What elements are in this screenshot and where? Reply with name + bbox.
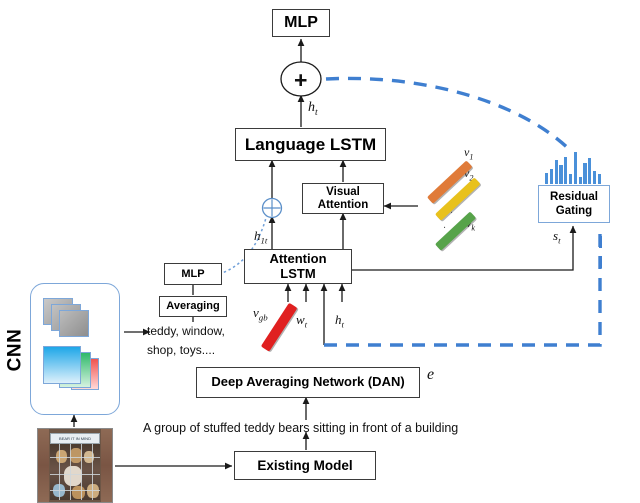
- ellipsis-dots-features-2: .: [443, 219, 446, 231]
- ellipsis-dots-features: .: [450, 204, 453, 216]
- existing-model-box[interactable]: Existing Model: [234, 451, 376, 480]
- visual-attention-box[interactable]: Visual Attention: [302, 183, 384, 214]
- sum-node-label: +: [294, 67, 307, 94]
- histogram-bar: [593, 171, 596, 184]
- dashed-e-to-residualgating: [324, 234, 600, 345]
- photo-bear-7: [87, 484, 99, 498]
- histogram-bar: [550, 169, 553, 184]
- histogram-bar: [588, 158, 591, 184]
- mlp-top-box[interactable]: MLP: [272, 9, 330, 37]
- histogram-bar: [564, 157, 567, 184]
- attention-lstm-box[interactable]: Attention LSTM: [244, 249, 352, 284]
- photo-grid-v3: [81, 444, 82, 500]
- language-lstm-box[interactable]: Language LSTM: [235, 128, 386, 161]
- line-attlstm-to-residual: [352, 262, 573, 270]
- histogram-bar: [583, 163, 586, 184]
- attention-lstm-label-line1: Attention: [269, 252, 326, 267]
- photo-grid-h3: [50, 490, 100, 491]
- photo-grid-h2: [50, 474, 100, 475]
- concept-tags-line1: teddy, window,: [147, 324, 225, 338]
- histogram-bar: [574, 152, 577, 184]
- photo-grid-h1: [50, 457, 100, 458]
- attention-lstm-label-line2: LSTM: [280, 267, 315, 282]
- residual-gating-histogram: [545, 152, 601, 184]
- label-s-t: st: [553, 228, 561, 246]
- visual-attention-label-line2: Attention: [318, 199, 368, 212]
- photo-brick-right: [101, 429, 112, 502]
- histogram-bar: [569, 174, 572, 184]
- feature-map-gray-3: [59, 310, 89, 337]
- photo-grid-v2: [70, 444, 71, 500]
- photo-bear-4: [64, 466, 82, 486]
- histogram-bar: [559, 165, 562, 184]
- photo-window: [50, 444, 100, 500]
- cnn-label: CNN: [0, 300, 32, 400]
- mlp-mid-box[interactable]: MLP: [164, 263, 222, 285]
- photo-store-sign: BEAR IT IN MIND: [50, 433, 100, 444]
- label-e: e: [427, 366, 434, 384]
- cnn-feature-map-group: [30, 283, 120, 415]
- histogram-bar: [555, 160, 558, 184]
- histogram-bar: [545, 173, 548, 184]
- caption-text: A group of stuffed teddy bears sitting i…: [143, 421, 458, 435]
- averaging-box[interactable]: Averaging: [159, 296, 227, 317]
- dashed-stub-2: [599, 256, 602, 268]
- residual-gating-label-line1: Residual: [550, 190, 598, 204]
- concept-tags-line2: shop, toys....: [147, 343, 215, 357]
- dan-box[interactable]: Deep Averaging Network (DAN): [196, 367, 420, 398]
- residual-gating-label-line2: Gating: [556, 204, 592, 218]
- feature-map-blue: [43, 346, 81, 384]
- input-photo: BEAR IT IN MIND: [37, 428, 113, 503]
- visual-attention-label-line1: Visual: [326, 186, 360, 199]
- histogram-bar: [598, 174, 601, 184]
- label-w-t: wt: [296, 312, 307, 330]
- residual-gating-box[interactable]: Residual Gating: [538, 185, 610, 223]
- histogram-bar: [579, 177, 582, 184]
- photo-brick-left: [38, 429, 49, 502]
- photo-grid-v4: [92, 444, 93, 500]
- label-h-1t: h1t: [254, 228, 267, 246]
- photo-bear-6: [72, 486, 85, 499]
- label-v-gb: vgb: [253, 305, 268, 323]
- label-v1: v1: [464, 145, 473, 161]
- label-h-t-input: ht: [335, 312, 344, 330]
- diagram-canvas: + MLP Language LSTM Visual Attention Att…: [0, 0, 640, 501]
- dashed-stub-1: [599, 236, 602, 248]
- label-h-t-top: ht: [308, 100, 318, 118]
- photo-grid-v1: [59, 444, 60, 500]
